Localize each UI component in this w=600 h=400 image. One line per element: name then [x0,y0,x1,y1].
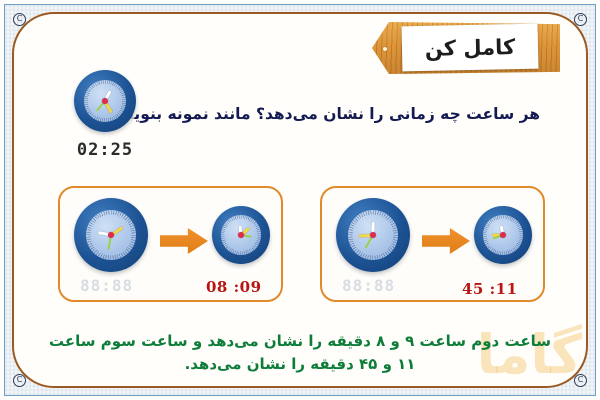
clock-center-pin [238,232,244,238]
exercise-2-start-clock [336,198,410,272]
exercise-2-blank-display: 88:88 [342,276,395,295]
question-text: هر ساعت چه زمانی را نشان می‌دهد؟ مانند ن… [140,105,540,123]
exercise-2-answer-display: 11: 45 [462,280,518,298]
section-banner: کامل کن [372,22,560,74]
exercise-1-end-clock [212,206,270,264]
corner-mark-bottom-left: C [13,374,26,387]
exercise-2-end-clock-wrap [474,206,532,264]
exercise-1-start-clock [74,198,148,272]
exercise-1-start-clock-wrap [74,198,148,272]
exercise-1-answer-display: 09: 08 [206,278,262,296]
example-block: 02:25 [62,70,148,160]
example-digital-display: 02:25 [62,140,148,160]
clock-face [86,210,136,260]
exercise-2-start-clock-wrap [336,198,410,272]
clock-face [221,215,260,254]
clock-face [483,215,522,254]
banner-nail-icon [383,47,387,51]
clock-center-pin [108,232,114,238]
clock-face [84,80,126,122]
exercise-box-2: 88:88 11: 45 [320,186,545,302]
bottom-answer-text: ساعت دوم ساعت ۹ و ۸ دقیقه را نشان می‌دهد… [40,330,560,377]
corner-mark-top-left: C [13,13,26,26]
banner-title: کامل کن [425,35,516,61]
exercise-2-arrow-icon [422,228,470,254]
clock-face [348,210,398,260]
exercise-box-1: 88:88 09: 08 [58,186,283,302]
clock-center-pin [102,98,108,104]
clock-center-pin [370,232,376,238]
worksheet-page: C C C C گاما کامل کن هر ساعت چه زمانی را… [0,0,600,400]
example-clock [74,70,136,132]
banner-paper-label: کامل کن [402,24,539,72]
clock-center-pin [500,232,506,238]
exercise-1-arrow-icon [160,228,208,254]
exercise-1-end-clock-wrap [212,206,270,264]
exercise-2-end-clock [474,206,532,264]
corner-mark-bottom-right: C [574,374,587,387]
exercise-1-blank-display: 88:88 [80,276,133,295]
corner-mark-top-right: C [574,13,587,26]
